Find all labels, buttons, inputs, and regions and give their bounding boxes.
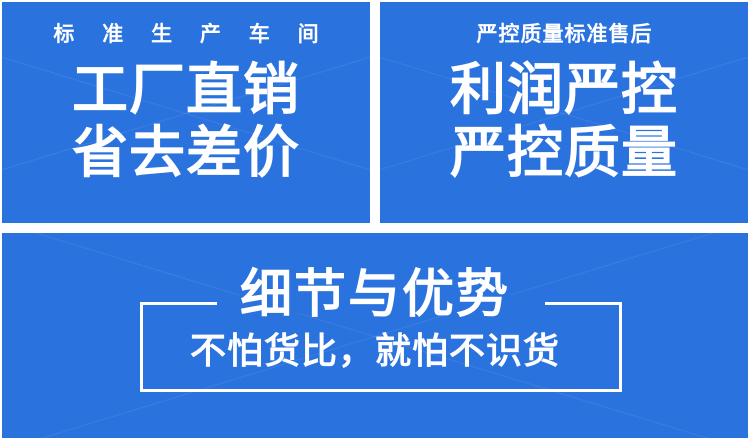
card-factory-direct-content: 标 准 生 产 车 间 工厂直销 省去差价 xyxy=(2,2,370,223)
banner-details-advantages: 细节与优势 不怕货比，就怕不识货 xyxy=(2,233,748,438)
card-factory-direct-headline-line1: 工厂直销 xyxy=(72,61,300,118)
banner-subtitle: 不怕货比，就怕不识货 xyxy=(2,333,748,369)
promo-banner-stage: 标 准 生 产 车 间 工厂直销 省去差价 严控质量标准售后 利润严控 严控质量… xyxy=(0,0,750,440)
card-factory-direct-eyebrow: 标 准 生 产 车 间 xyxy=(42,24,329,45)
banner-title: 细节与优势 xyxy=(2,269,748,321)
card-factory-direct: 标 准 生 产 车 间 工厂直销 省去差价 xyxy=(2,2,370,223)
card-quality-control-headline-line2: 严控质量 xyxy=(450,124,678,181)
card-quality-control-eyebrow: 严控质量标准售后 xyxy=(476,24,653,45)
card-quality-control: 严控质量标准售后 利润严控 严控质量 xyxy=(380,2,748,223)
card-quality-control-headline-line1: 利润严控 xyxy=(450,61,678,118)
card-quality-control-content: 严控质量标准售后 利润严控 严控质量 xyxy=(380,2,748,223)
card-factory-direct-headline-line2: 省去差价 xyxy=(72,124,300,181)
